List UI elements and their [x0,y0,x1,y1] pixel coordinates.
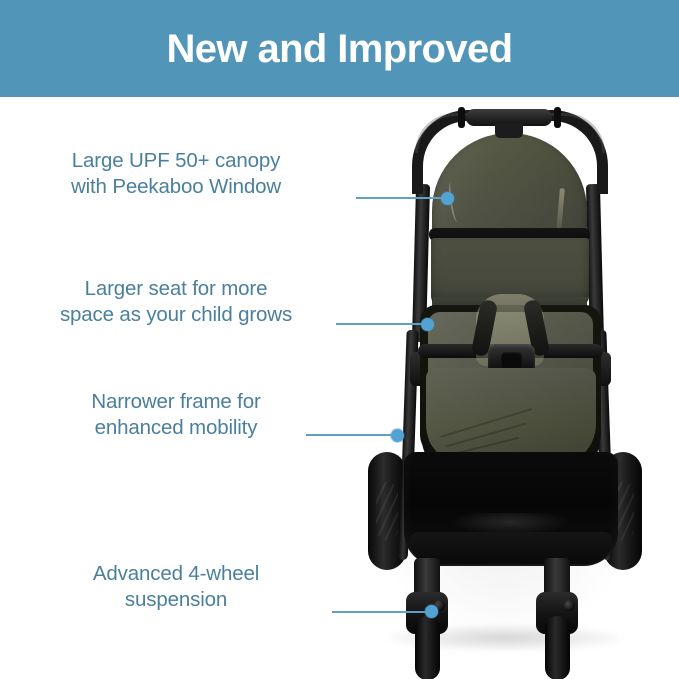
handlebar-adjust-ring-left [458,107,465,128]
callout-frame-line1: Narrower frame for [26,389,326,415]
handlebar-adjust-ring-right [554,107,561,128]
front-swivel-pin-right [564,600,575,611]
front-wheel-right [545,616,570,679]
callout-suspension-line1: Advanced 4-wheel [26,561,326,587]
callout-suspension-label: Advanced 4-wheel suspension [26,561,326,613]
callout-canopy-line1: Large UPF 50+ canopy [26,148,326,174]
callout-canopy-label: Large UPF 50+ canopy with Peekaboo Windo… [26,148,326,200]
leader-line-frame [306,434,398,436]
leader-dot-suspension [425,605,438,618]
stroller-image [330,100,679,679]
callout-suspension-line2: suspension [26,587,326,613]
leader-line-seat [336,323,428,325]
header-banner: New and Improved [0,0,679,97]
callout-seat-line2: space as your child grows [26,302,326,328]
leader-line-suspension [332,611,432,613]
callout-frame-line2: enhanced mobility [26,415,326,441]
handlebar-center-tab [495,123,523,138]
front-wheel-left [415,616,440,679]
leader-dot-canopy [441,192,454,205]
callout-seat-line1: Larger seat for more [26,276,326,302]
basket-lip [410,532,612,564]
callout-frame-label: Narrower frame for enhanced mobility [26,389,326,441]
leader-dot-seat [421,318,434,331]
leader-line-canopy [356,197,448,199]
banner-title: New and Improved [166,29,512,69]
leader-dot-frame [391,429,404,442]
callout-canopy-line2: with Peekaboo Window [26,174,326,200]
callout-seat-label: Larger seat for more space as your child… [26,276,326,328]
product-feature-graphic: New and Improved [0,0,679,679]
